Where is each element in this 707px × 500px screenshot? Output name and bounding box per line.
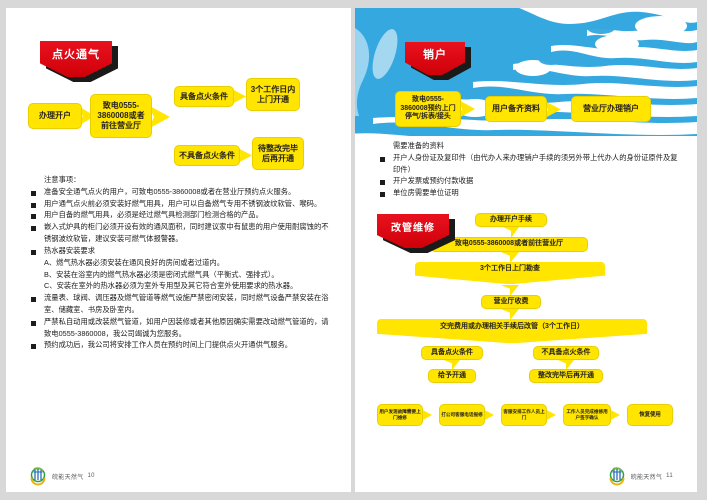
repair-branch-no-conditions[interactable]: 不具备点火条件 bbox=[533, 346, 599, 360]
company-logo-icon bbox=[607, 466, 627, 486]
footer-brand-left: 皖能天然气 bbox=[52, 472, 84, 481]
note-sub-item-b: B、安装在浴室内的燃气热水器必须是密闭式燃气具（平衡式、强排式）。 bbox=[30, 269, 330, 281]
repair-step-1[interactable]: 办理开户手续 bbox=[475, 213, 547, 227]
repair-arrow-4 bbox=[501, 309, 519, 320]
repair-branch-has-conditions[interactable]: 具备点火条件 bbox=[421, 346, 483, 360]
company-logo-icon bbox=[28, 466, 48, 486]
flow-node-after-rectification-label: 待整改完毕后再开通 bbox=[255, 144, 301, 164]
flow-node-call-appointment[interactable]: 致电0555-3860008预约上门停气/拆表/接头 bbox=[395, 91, 461, 127]
service-step-1-label: 用户发现故障需要上门维修 bbox=[379, 409, 421, 420]
note-sub-item-a: A、燃气热水器必须安装在通风良好的房间或者过道内。 bbox=[30, 257, 330, 269]
magazine-spread: 点火通气 办理开户 致电0555-3860008或者前往营业厅 具备点火条件 3… bbox=[0, 0, 707, 500]
material-item-1: 开户人身份证及复印件（由代办人来办理销户手续的须另外带上代办人的身份证原件及复印… bbox=[379, 152, 679, 176]
flow-node-has-ignition-conditions[interactable]: 具备点火条件 bbox=[174, 86, 234, 107]
flow-node-no-ignition-conditions[interactable]: 不具备点火条件 bbox=[174, 145, 240, 166]
note-item-8: 预约成功后，我公司将安排工作人员在预约时间上门提供点火开通供气服务。 bbox=[30, 339, 330, 351]
flow-node-prepare-materials[interactable]: 用户备齐资料 bbox=[485, 96, 547, 122]
flow-node-open-in-3-days[interactable]: 3个工作日内上门开通 bbox=[246, 78, 300, 111]
repair-step-3[interactable]: 3个工作日上门勘查 bbox=[415, 262, 605, 284]
repair-step-4[interactable]: 营业厅收费 bbox=[481, 295, 541, 309]
right-page-footer: 皖能天然气 11 bbox=[607, 466, 673, 486]
materials-block: 需要准备的资料 开户人身份证及复印件（由代办人来办理销户手续的须另外带上代办人的… bbox=[379, 140, 679, 199]
note-item-3: 用户自备的燃气用具，必须是经过燃气具检测部门检测合格的产品。 bbox=[30, 209, 330, 221]
note-item-7: 严禁私自动用或改装燃气管道，如用户因装修或者其他原因确实需要改动燃气管道的，请致… bbox=[30, 316, 330, 340]
repair-branch-after-rectify[interactable]: 整改完毕后再开通 bbox=[529, 369, 603, 383]
service-step-3-label: 客服安排工作人员上门 bbox=[503, 409, 545, 420]
note-sub-item-c: C、安装在室外的热水器必须为室外专用型及其它符合室外使用要求的热水器。 bbox=[30, 280, 330, 292]
materials-heading: 需要准备的资料 bbox=[393, 140, 679, 152]
footer-page-number-right: 11 bbox=[666, 473, 673, 479]
service-step-2[interactable]: 打公司客服电话报修 bbox=[439, 404, 485, 426]
repair-arrow-2 bbox=[501, 252, 519, 263]
repair-step-3-label: 3个工作日上门勘查 bbox=[480, 265, 540, 274]
service-step-2-label: 打公司客服电话报修 bbox=[441, 412, 482, 418]
repair-step-5-label: 交完费用或办理相关手续后改管（3个工作日） bbox=[440, 323, 584, 332]
service-step-3[interactable]: 客服安排工作人员上门 bbox=[501, 404, 547, 426]
material-item-3: 单位房需要单位证明 bbox=[379, 187, 679, 199]
service-step-1[interactable]: 用户发现故障需要上门维修 bbox=[377, 404, 423, 426]
flow-node-open-account[interactable]: 办理开户 bbox=[28, 103, 82, 129]
flow-node-after-rectification[interactable]: 待整改完毕后再开通 bbox=[252, 137, 304, 170]
flow-node-office-closure[interactable]: 营业厅办理销户 bbox=[571, 96, 651, 122]
flow-node-call-or-visit-label: 致电0555-3860008或者前往营业厅 bbox=[94, 101, 148, 131]
section-banner-pipe-repair: 改管维修 bbox=[377, 214, 449, 248]
flow-node-call-appointment-label: 致电0555-3860008预约上门停气/拆表/接头 bbox=[399, 96, 457, 122]
note-item-2: 用户通气点火前必须安装好燃气用具，用户可以自备燃气专用不锈钢波纹软管、喉码。 bbox=[30, 198, 330, 210]
left-page: 点火通气 办理开户 致电0555-3860008或者前往营业厅 具备点火条件 3… bbox=[6, 8, 351, 492]
flow-node-open-in-3-days-label: 3个工作日内上门开通 bbox=[249, 85, 297, 105]
note-item-6: 流量表、球阀、调压器及燃气管道等燃气设施严禁密闭安装，同时燃气设备严禁安装在浴室… bbox=[30, 292, 330, 316]
service-step-4-label: 工作人员完成维修用户签字确认 bbox=[565, 409, 609, 420]
notes-block: 注意事项： 准备安全通气点火的用户，可致电0555-3860008或者在营业厅预… bbox=[30, 174, 330, 351]
service-step-5[interactable]: 恢复使用 bbox=[627, 404, 673, 426]
service-step-4[interactable]: 工作人员完成维修用户签字确认 bbox=[563, 404, 611, 426]
notes-heading: 注意事项： bbox=[44, 174, 330, 186]
flow-node-call-or-visit[interactable]: 致电0555-3860008或者前往营业厅 bbox=[90, 94, 152, 138]
section-banner-account-closure: 销户 bbox=[405, 42, 465, 75]
note-item-1: 准备安全通气点火的用户，可致电0555-3860008或者在营业厅预约点火服务。 bbox=[30, 186, 330, 198]
section-banner-ignition: 点火通气 bbox=[40, 41, 112, 77]
repair-branch-grant-open[interactable]: 给予开通 bbox=[428, 369, 476, 383]
footer-brand-right: 皖能天然气 bbox=[631, 472, 663, 481]
repair-step-5[interactable]: 交完费用或办理相关手续后改管（3个工作日） bbox=[377, 319, 647, 343]
footer-page-number-left: 10 bbox=[88, 473, 95, 479]
left-page-footer: 皖能天然气 10 bbox=[28, 466, 95, 486]
service-step-5-label: 恢复使用 bbox=[639, 412, 661, 419]
note-item-4: 嵌入式炉具的柜门必须开设有效的通风面积，同时建议家中有鼠患的用户使用耐腐蚀的不锈… bbox=[30, 221, 330, 245]
right-page: 销户 致电0555-3860008预约上门停气/拆表/接头 用户备齐资料 营业厅… bbox=[355, 8, 697, 492]
note-item-5: 热水器安装要求 bbox=[30, 245, 330, 257]
material-item-2: 开户发票或预约付款收据 bbox=[379, 175, 679, 187]
